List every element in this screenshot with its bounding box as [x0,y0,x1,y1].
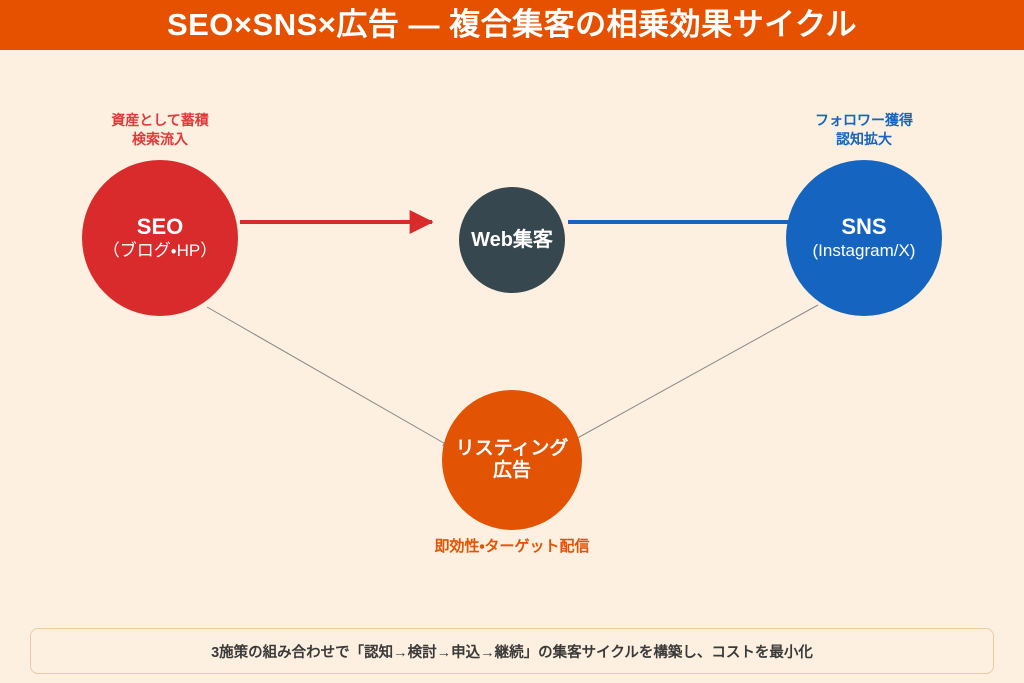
node-web[interactable]: Web集客 [459,187,565,293]
caption-listing-ads: 即効性・ターゲット配信 [392,537,632,557]
node-listing-ads-title: リスティング 広告 [456,438,569,482]
node-sns-title: SNS [841,214,886,239]
node-web-title: Web集客 [471,229,553,252]
footer-note-text: 3施策の組み合わせで「認知→検討→申込→継続」の集客サイクルを構築し、コストを最… [211,641,813,662]
caption-sns: フォロワー獲得 認知拡大 [764,111,964,149]
node-seo-subtitle: （ブログ・HP） [103,241,217,261]
node-seo[interactable]: SEO （ブログ・HP） [82,160,238,316]
slide-canvas: SEO×SNS×広告 — 複合集客の相乗効果サイクル SEO （ブログ・HP） … [0,0,1024,683]
node-listing-ads[interactable]: リスティング 広告 [442,390,582,530]
edge-seo-to-ads [207,307,449,446]
edge-sns-to-ads [563,305,818,446]
edge-layer [0,0,1024,683]
node-sns[interactable]: SNS (Instagram/X) [786,160,942,316]
footer-note: 3施策の組み合わせで「認知→検討→申込→継続」の集客サイクルを構築し、コストを最… [30,628,994,674]
node-seo-title: SEO [137,214,183,239]
caption-seo: 資産として蓄積 検索流入 [60,111,260,149]
node-sns-subtitle: (Instagram/X) [813,241,916,261]
